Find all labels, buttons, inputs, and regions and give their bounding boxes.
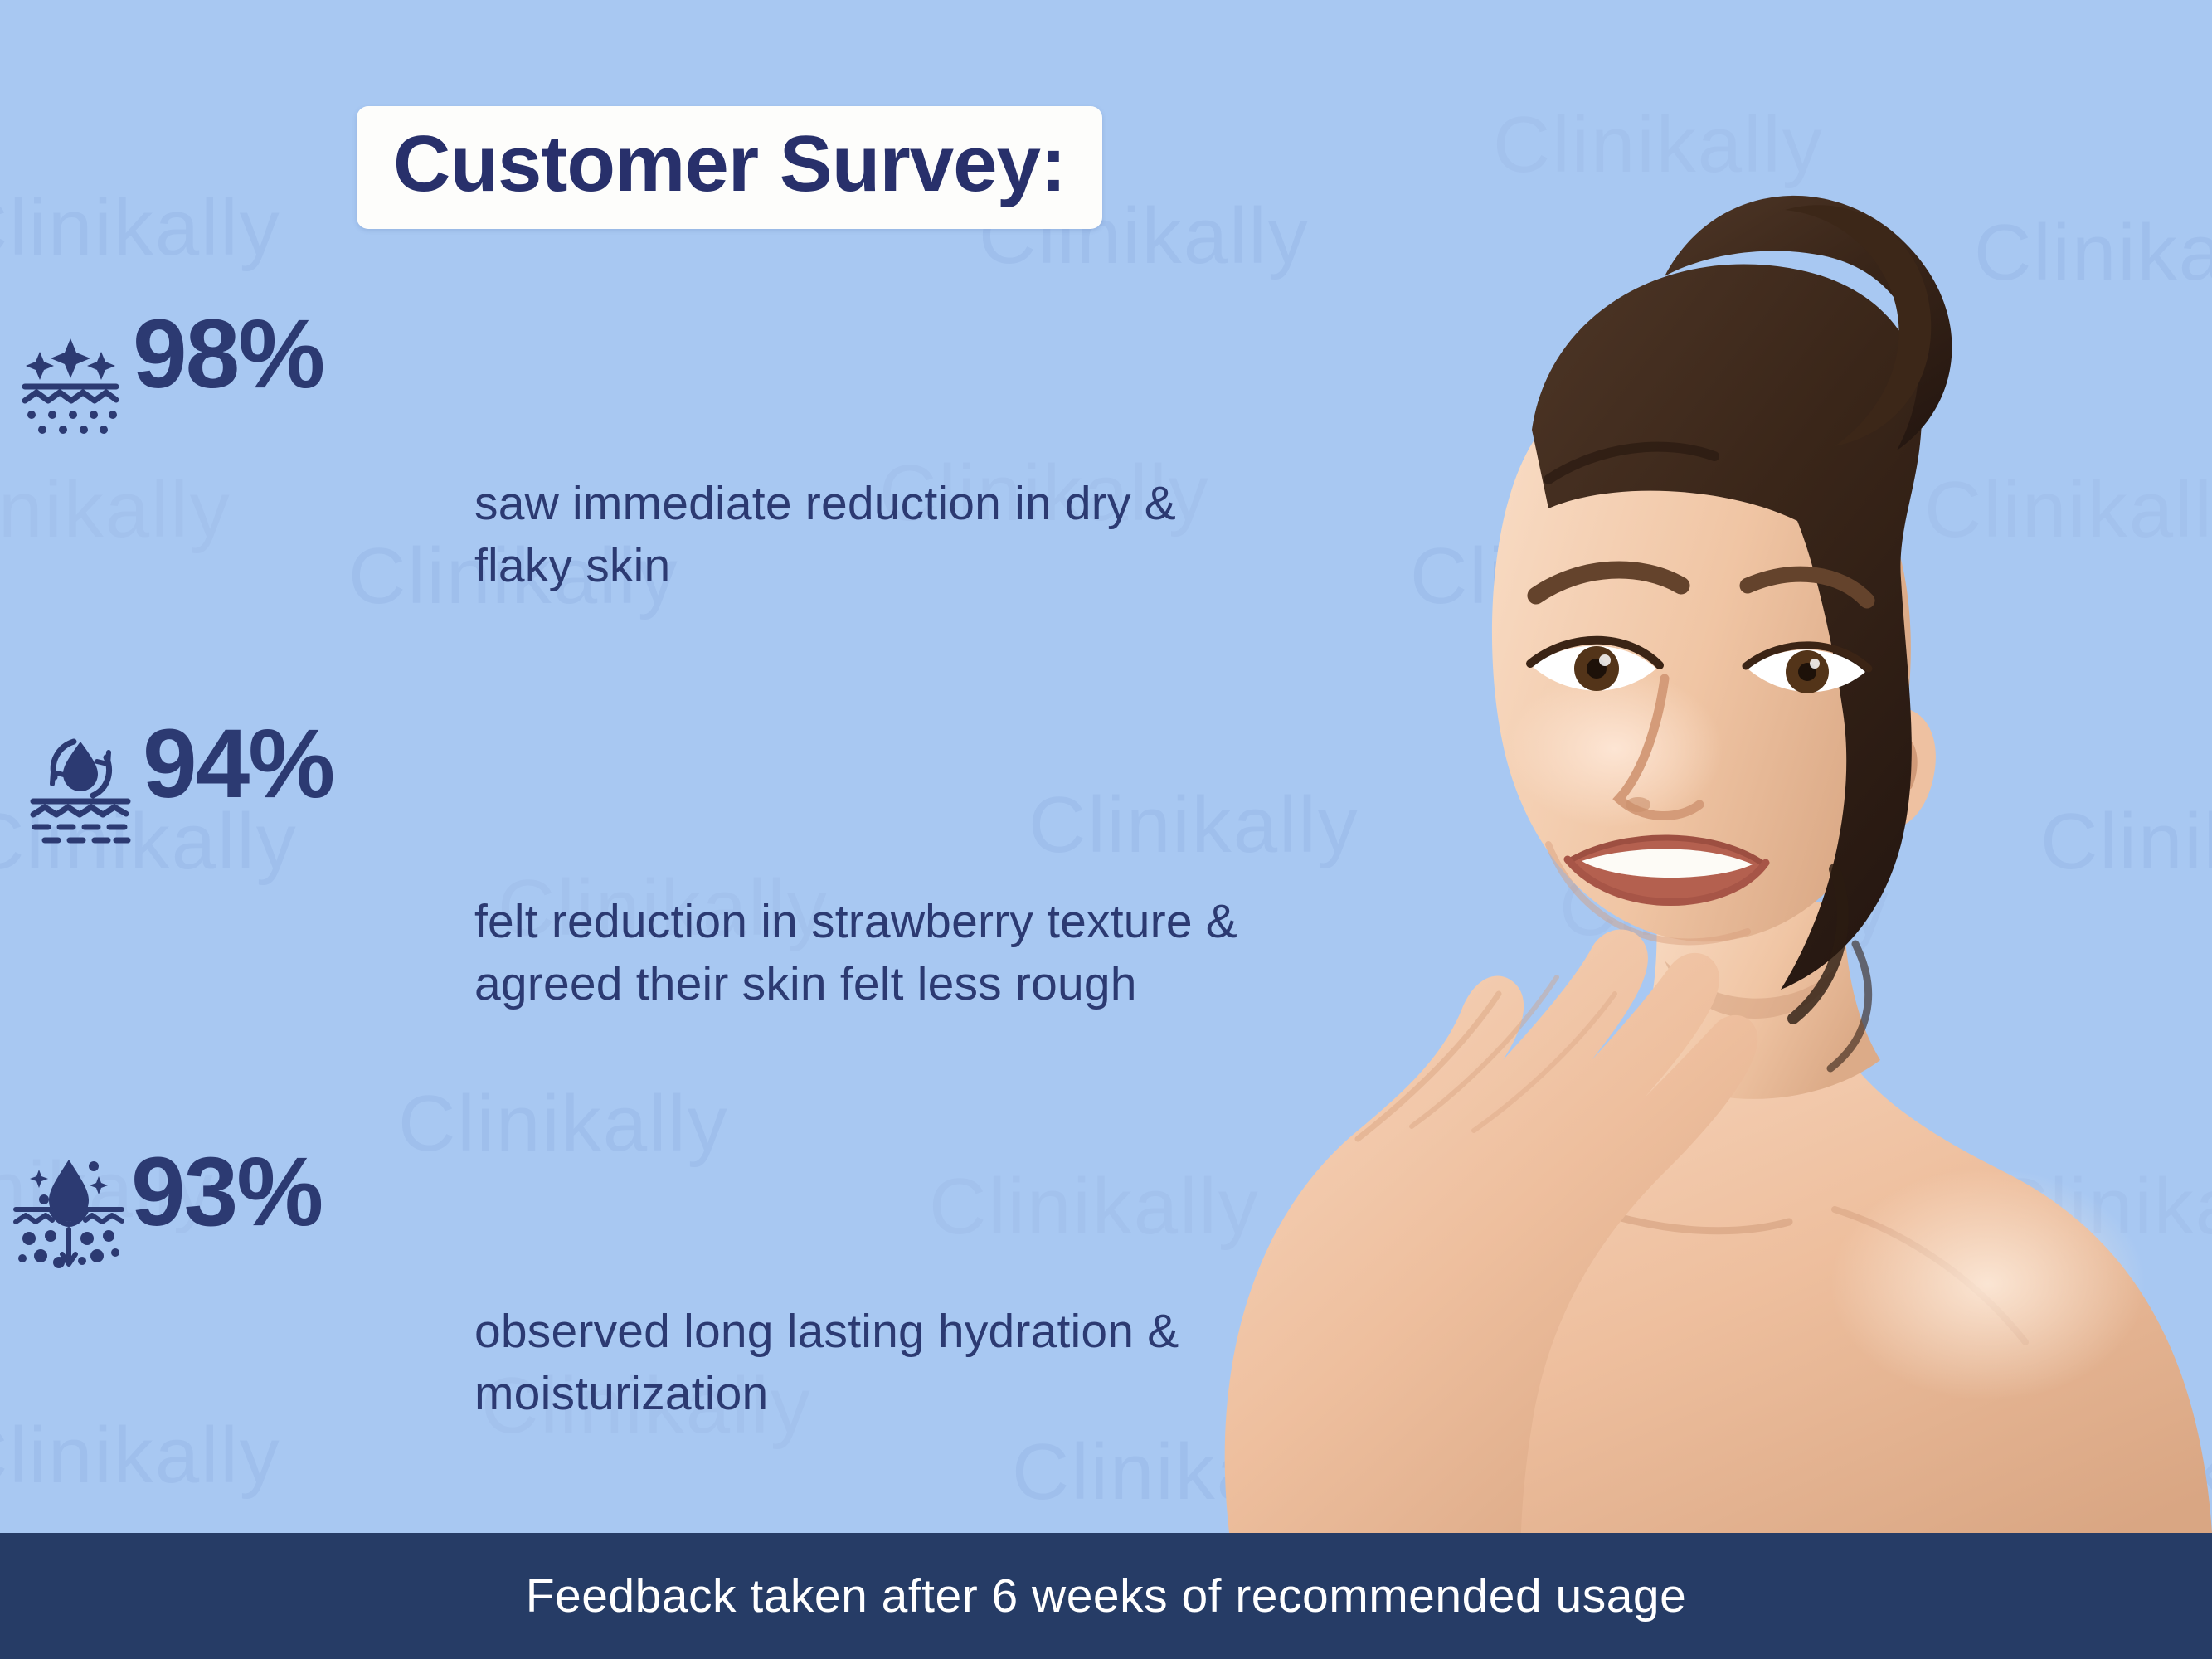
teeth [1582, 849, 1753, 878]
stat-description: saw immediate reduction in dry & flaky s… [474, 473, 1244, 597]
footer-band: Feedback taken after 6 weeks of recommen… [0, 1533, 2212, 1659]
ear [1876, 708, 1936, 829]
hair-strand [1830, 944, 1869, 1068]
eye-right-iris [1786, 650, 1829, 693]
page-title: Customer Survey: [393, 124, 1066, 204]
eye-left-pupil [1587, 659, 1607, 679]
nostril [1626, 797, 1650, 812]
finger-crease [1412, 977, 1557, 1126]
stat-value: 93% [131, 1143, 322, 1241]
watermark-text: Clinikally [1974, 207, 2212, 299]
content-column: Customer Survey: [0, 0, 1244, 1533]
hair-mass [1532, 264, 1922, 990]
watermark-text: Clinikally [1924, 465, 2212, 556]
model-photo [1084, 131, 2212, 1533]
stat-headline: 98% [0, 305, 1244, 438]
mouth [1569, 838, 1764, 902]
droplet-absorb-skin-icon [0, 1143, 131, 1269]
eye-left-lashline [1530, 640, 1660, 665]
hand [1225, 930, 1758, 1534]
hair-bun [1665, 196, 1952, 450]
title-badge: Customer Survey: [357, 106, 1102, 229]
lower-lip [1568, 859, 1766, 902]
finger-crease [1358, 994, 1499, 1139]
stat-block: 93% observed long lasting hydration & mo… [0, 1143, 1244, 1425]
eye-right-lashline [1746, 645, 1869, 669]
watermark-text: Clinikally [1410, 531, 1741, 622]
watermark-text: Clinikally [1493, 100, 1824, 191]
hair-bun-highlight [1785, 205, 1931, 446]
ear-detail [1893, 737, 1914, 786]
eye-left-catchlight [1599, 654, 1611, 666]
watermark-text: Clinikally [2024, 1427, 2212, 1518]
upper-lip [1569, 838, 1764, 864]
nose [1619, 679, 1699, 816]
eye-left-iris [1574, 646, 1619, 691]
cheek-highlight [1507, 670, 1723, 828]
eye-right-white [1748, 649, 1865, 692]
neck-shadow [1665, 961, 1839, 1019]
stat-value: 94% [143, 715, 333, 813]
customer-survey-poster: Clinikally Clinikally Clinikally Clinika… [0, 0, 2212, 1659]
droplet-refresh-skin-icon [0, 715, 143, 846]
stat-headline: 93% [0, 1143, 1244, 1269]
shoulder-highlight [1830, 1168, 2146, 1400]
jawline [1548, 844, 1748, 941]
finger-crease [1474, 994, 1615, 1131]
sparkle-skin-icon [0, 305, 133, 438]
stat-block: 98% saw immediate reduction in dry & fla… [0, 305, 1244, 597]
footer-note: Feedback taken after 6 weeks of recommen… [526, 1569, 1687, 1623]
neck [1631, 902, 1880, 1099]
hair-strand [1548, 447, 1714, 479]
watermark-text: Clinikally [1543, 1360, 1874, 1452]
face [1492, 397, 1911, 941]
stat-headline: 94% [0, 715, 1244, 846]
watermark-text: Clinikally [1460, 1078, 1791, 1170]
eye-right-pupil [1798, 663, 1816, 681]
collarbone-right [1835, 1209, 2025, 1342]
hair-strand [1793, 869, 1843, 1019]
stat-value: 98% [133, 305, 323, 403]
eye-right-catchlight [1810, 659, 1820, 669]
eyebrow-left [1536, 570, 1681, 596]
shoulders [1291, 1035, 2212, 1533]
stat-description: felt reduction in strawberry texture & a… [474, 891, 1244, 1015]
stat-description: observed long lasting hydration & moistu… [474, 1301, 1244, 1425]
stat-block: 94% felt reduction in strawberry texture… [0, 715, 1244, 1015]
eyebrow-right [1748, 574, 1867, 601]
eye-left-white [1532, 646, 1656, 691]
watermark-text: Clinikally [1991, 1161, 2212, 1253]
collarbone-left [1532, 1185, 1789, 1231]
watermark-text: Clinikally [2040, 796, 2212, 888]
watermark-text: Clinikally [1559, 863, 1890, 954]
